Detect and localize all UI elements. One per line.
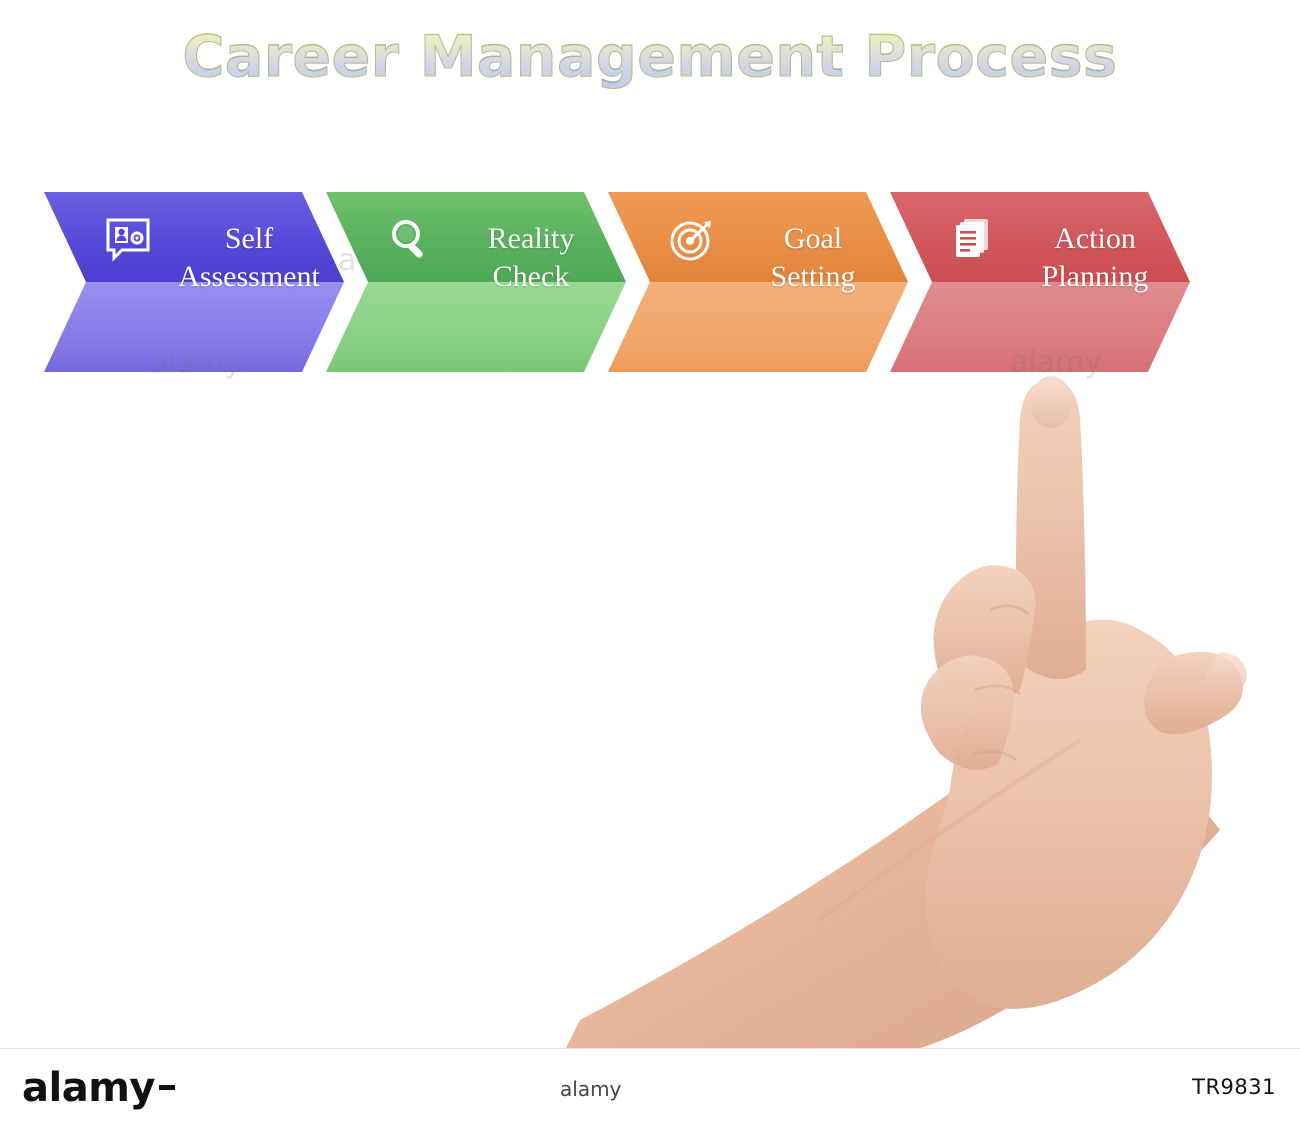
step-label-line2: Assessment (164, 258, 334, 296)
process-step-goal-setting[interactable]: Goal Setting (608, 192, 908, 372)
footer-center-text: alamy (560, 1077, 621, 1101)
step-label-line1: Reality (446, 220, 616, 258)
process-step-reality-check[interactable]: Reality Check (326, 192, 626, 372)
alamy-logo-dash (159, 1085, 175, 1090)
id-card-icon (102, 214, 154, 266)
image-id-label: TR9831 (1192, 1075, 1276, 1099)
step-label: Goal Setting (728, 220, 898, 297)
alamy-logo: alamy (22, 1065, 175, 1111)
step-label: Reality Check (446, 220, 616, 297)
step-label: Action Planning (1010, 220, 1180, 297)
alamy-logo-text: alamy (22, 1065, 155, 1111)
step-label-line2: Planning (1010, 258, 1180, 296)
step-label-line1: Action (1010, 220, 1180, 258)
documents-icon (948, 214, 1000, 266)
page-title: Career Management Process (0, 24, 1300, 90)
pointing-hand-image (520, 360, 1260, 1060)
step-label: Self Assessment (164, 220, 334, 297)
step-label-line2: Check (446, 258, 616, 296)
target-icon (666, 214, 718, 266)
process-diagram: Self Assessment Reality Check (44, 192, 1224, 372)
footer-bar: alamy alamy TR9831 (0, 1048, 1300, 1125)
process-step-self-assessment[interactable]: Self Assessment (44, 192, 344, 372)
step-label-line1: Goal (728, 220, 898, 258)
process-step-action-planning[interactable]: Action Planning (890, 192, 1190, 372)
magnifier-icon (384, 214, 436, 266)
step-label-line1: Self (164, 220, 334, 258)
step-label-line2: Setting (728, 258, 898, 296)
